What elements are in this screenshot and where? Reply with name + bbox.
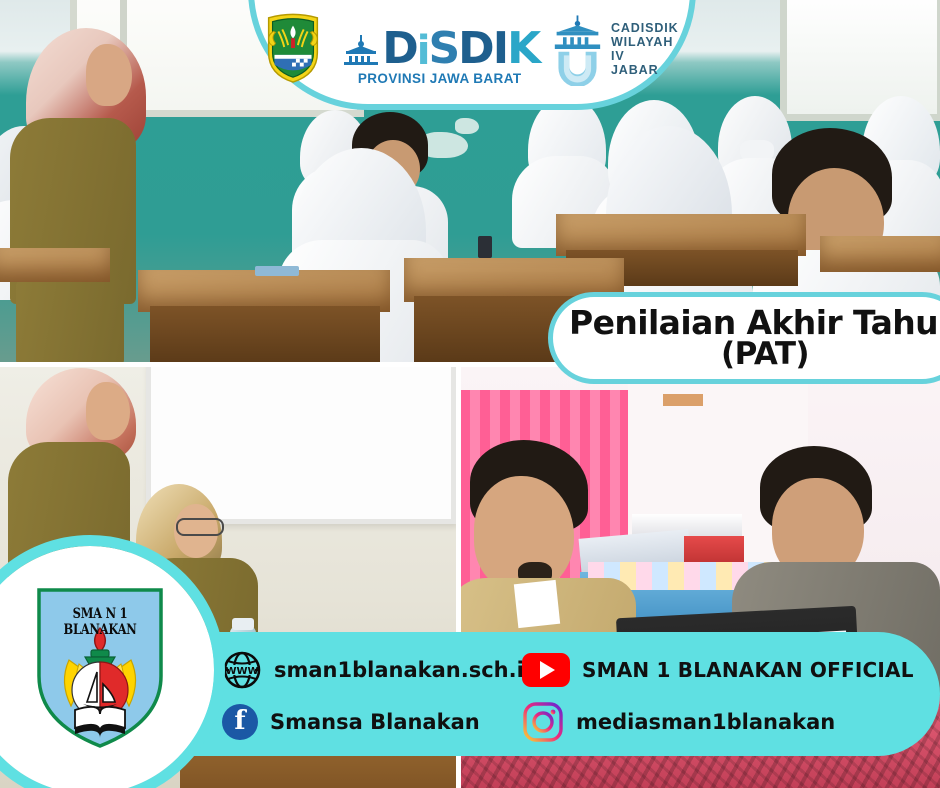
instagram-label: mediasman1blanakan — [576, 710, 835, 734]
crest-label: SMA N 1 BLANAKAN — [39, 606, 162, 638]
header-banner: D i S D I K PROVINSI JAWA BARAT — [248, 0, 696, 110]
gedung-sate-icon-disdik — [340, 35, 382, 65]
disdik-letter-K: K — [507, 29, 539, 69]
desk-far-right — [820, 236, 940, 272]
jawa-barat-provincial-emblem — [260, 10, 326, 86]
cadisdik-lockup: CADISDIK WILAYAH IV JABAR — [553, 12, 684, 86]
poster-canvas: PENILAIAN AKHIR TAHUN TAHUN PELAJARAN 20… — [0, 0, 940, 788]
desk-front-leg — [150, 306, 380, 364]
bottle-cap — [232, 618, 254, 630]
cadisdik-text-block: CADISDIK WILAYAH IV JABAR — [611, 21, 684, 77]
facebook-label: Smansa Blanakan — [270, 710, 480, 734]
eyeglasses — [176, 518, 224, 536]
facebook-icon: f — [222, 704, 258, 740]
social-links-group: WWW sman1blanakan.sch.id SMAN 1 BLANAKAN… — [222, 644, 940, 748]
youtube-label: SMAN 1 BLANAKAN OFFICIAL — [582, 658, 914, 682]
disdik-letter-D: D — [382, 29, 417, 69]
page-title-subtitle: (PAT) — [569, 339, 940, 370]
page-title: Penilaian Akhir Tahun — [569, 306, 940, 339]
instagram-icon — [522, 701, 564, 743]
cadisdik-line2: WILAYAH IV — [611, 35, 684, 63]
sma-n-1-blanakan-crest: SMA N 1 BLANAKAN — [25, 584, 175, 752]
wall-patch-small — [455, 118, 479, 134]
phone-in-hand — [478, 236, 492, 258]
disdik-letter-D2: D — [458, 29, 493, 69]
social-link-facebook[interactable]: f Smansa Blanakan — [222, 704, 522, 740]
globe-www-icon: WWW — [222, 650, 262, 690]
social-link-website[interactable]: WWW sman1blanakan.sch.id — [222, 650, 522, 690]
disdik-letter-i: i — [417, 33, 429, 69]
phone-on-desk — [255, 266, 299, 276]
collar-undershirt — [514, 580, 560, 628]
social-link-instagram[interactable]: mediasman1blanakan — [522, 701, 940, 743]
disdik-subtitle: PROVINSI JAWA BARAT — [358, 71, 522, 86]
website-label: sman1blanakan.sch.id — [274, 658, 539, 682]
wall-tape-mark — [663, 394, 703, 406]
disdik-letter-I: I — [493, 29, 507, 69]
social-link-youtube[interactable]: SMAN 1 BLANAKAN OFFICIAL — [522, 653, 940, 687]
poster-title-banner: Penilaian Akhir Tahun (PAT) — [548, 292, 940, 384]
youtube-icon — [522, 653, 570, 687]
cadisdik-line1: CADISDIK — [611, 21, 684, 35]
svg-text:WWW: WWW — [225, 666, 258, 677]
gedung-sate-building-icon — [553, 12, 604, 86]
school-logo-badge: SMA N 1 BLANAKAN — [0, 546, 214, 788]
disdik-letter-S: S — [428, 29, 458, 69]
disdik-lockup: D i S D I K PROVINSI JAWA BARAT — [340, 29, 539, 86]
cadisdik-line3: JABAR — [611, 63, 684, 77]
disdik-wordmark: D i S D I K — [340, 29, 539, 69]
desk-far-left — [0, 248, 110, 282]
